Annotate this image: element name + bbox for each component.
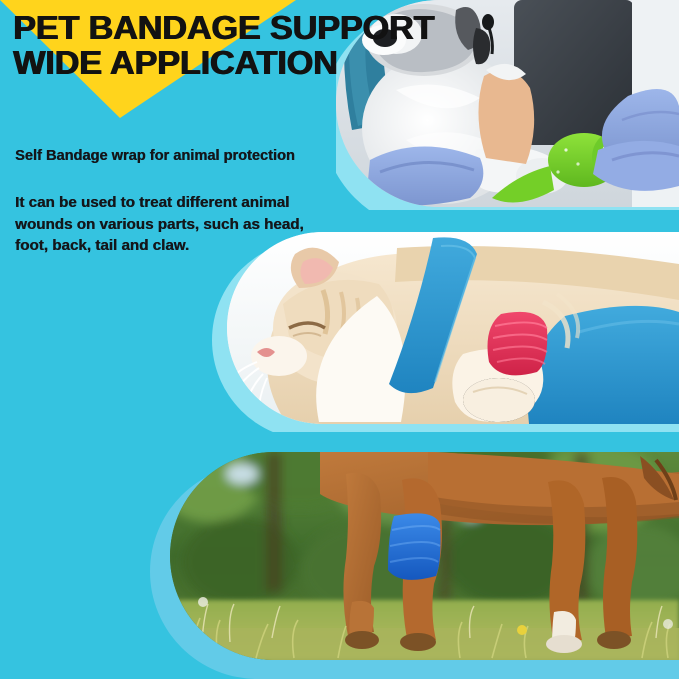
body-copy-block: Self Bandage wrap for animal protection … [15, 148, 335, 258]
lead-text: Self Bandage wrap for animal protection [15, 148, 295, 164]
panel-cat-bandage [212, 232, 679, 432]
headline-line-1: PET BANDAGE SUPPORT [13, 12, 434, 44]
headline-block: PET BANDAGE SUPPORT WIDE APPLICATION [13, 12, 418, 80]
panel-horse-bandage [150, 452, 679, 679]
panel-cat-photo [227, 232, 679, 424]
description-paragraph: It can be used to treat different animal… [15, 192, 325, 257]
panel-horse-photo [170, 452, 679, 660]
product-marketing-image: PET BANDAGE SUPPORT WIDE APPLICATION Sel… [0, 0, 679, 679]
headline-line-2: WIDE APPLICATION [13, 47, 434, 79]
